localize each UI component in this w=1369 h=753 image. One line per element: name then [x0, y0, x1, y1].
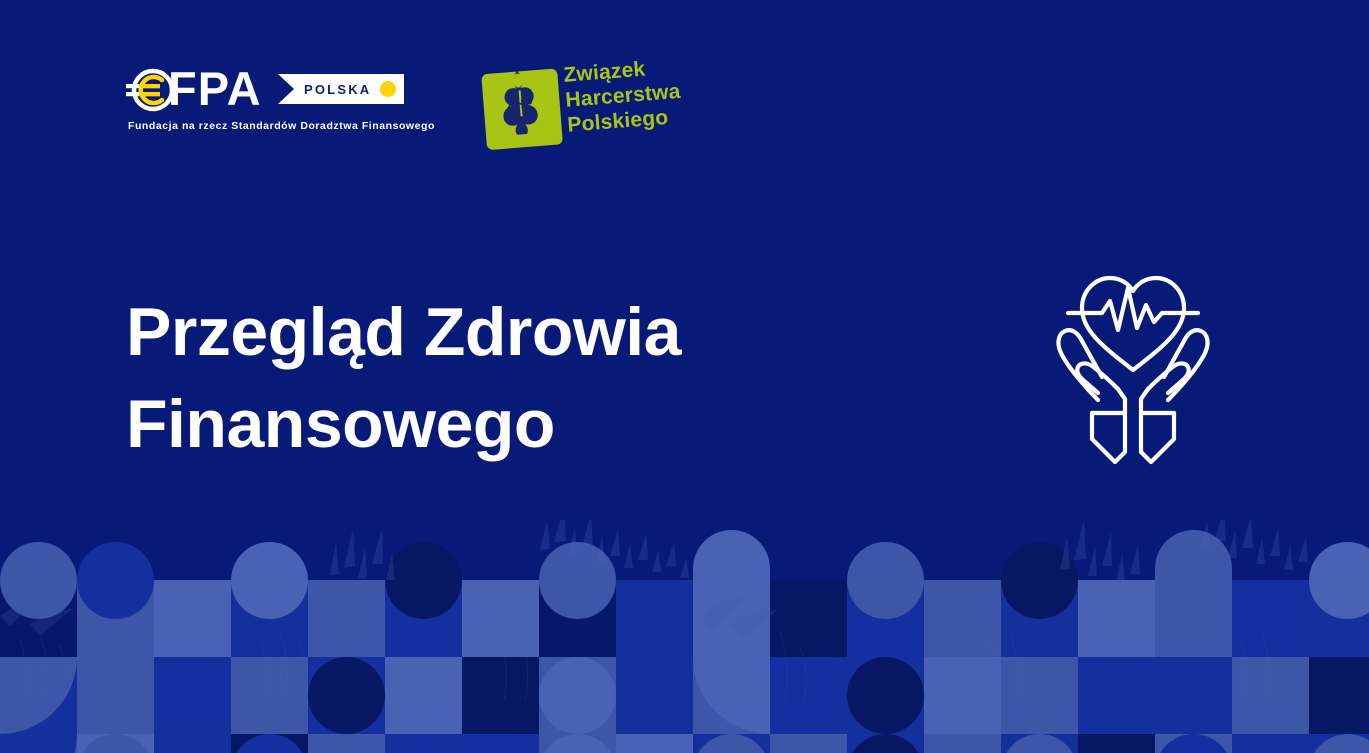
pattern-square — [1232, 734, 1309, 753]
zhp-wordmark: Związek Harcerstwa Polskiego — [563, 54, 684, 138]
pattern-cell — [154, 657, 231, 734]
pattern-arch — [1155, 530, 1232, 657]
polska-dot-icon — [380, 81, 396, 97]
pattern-cell — [77, 734, 154, 753]
pattern-cell — [1078, 657, 1155, 734]
pattern-cell — [462, 580, 539, 657]
pattern-cell — [693, 580, 770, 657]
pattern-square — [924, 657, 1001, 734]
pattern-cell — [770, 580, 847, 657]
pattern-square — [616, 580, 693, 657]
pattern-row — [0, 734, 1369, 753]
pattern-square — [308, 580, 385, 657]
pattern-cell — [1001, 734, 1078, 753]
scout-fleur-de-lis-icon: ZHP — [487, 66, 552, 137]
pattern-circle — [539, 657, 616, 734]
pattern-cell — [231, 657, 308, 734]
pattern-quarter — [0, 734, 77, 753]
polska-label: POLSKA — [304, 82, 371, 97]
efpa-tagline: Fundacja na rzecz Standardów Doradztwa F… — [128, 120, 435, 132]
pattern-cell — [462, 734, 539, 753]
pattern-square — [77, 657, 154, 734]
polska-badge: POLSKA — [278, 74, 404, 104]
pattern-cell — [231, 580, 308, 657]
pattern-cell — [462, 657, 539, 734]
pattern-cell — [1309, 580, 1369, 657]
pattern-cell — [616, 580, 693, 657]
pattern-cell — [1232, 580, 1309, 657]
page-title: Przegląd Zdrowia Finansowego — [126, 286, 826, 470]
pattern-cell — [0, 734, 77, 753]
pattern-cell — [1309, 734, 1369, 753]
pattern-cell — [231, 734, 308, 753]
pattern-circle — [1078, 657, 1155, 734]
pattern-square — [308, 734, 385, 753]
pattern-cell — [1155, 580, 1232, 657]
pattern-cell — [308, 657, 385, 734]
pattern-square — [1155, 657, 1232, 734]
pattern-cell — [616, 657, 693, 734]
pattern-square — [770, 657, 847, 734]
pattern-square — [462, 580, 539, 657]
pattern-square — [1232, 657, 1309, 734]
right-wrist-cuff — [1141, 413, 1174, 462]
pattern-cell — [924, 580, 1001, 657]
pattern-square — [231, 657, 308, 734]
efpa-wordmark: FPA — [168, 66, 262, 112]
pattern-circle — [231, 542, 308, 619]
pattern-cell — [154, 580, 231, 657]
pattern-square — [770, 734, 847, 753]
pattern-square — [1078, 580, 1155, 657]
heart-in-hands-icon — [1030, 250, 1236, 465]
pattern-square — [154, 580, 231, 657]
pattern-cell — [1232, 657, 1309, 734]
pattern-circle — [154, 657, 231, 734]
pattern-cell — [539, 734, 616, 753]
pattern-cell — [770, 734, 847, 753]
pattern-cell — [770, 657, 847, 734]
title-line-2: Finansowego — [126, 378, 826, 470]
pattern-row — [0, 580, 1369, 657]
pattern-cell — [1078, 580, 1155, 657]
pattern-circle — [77, 542, 154, 619]
pattern-square — [1001, 657, 1078, 734]
pattern-cell — [385, 657, 462, 734]
pattern-circle — [385, 542, 462, 619]
pattern-cell — [539, 657, 616, 734]
pattern-square — [462, 734, 539, 753]
geometric-blue-pattern — [0, 520, 1369, 753]
pattern-cell — [154, 734, 231, 753]
pattern-cell — [385, 580, 462, 657]
pattern-arch — [693, 530, 770, 657]
pattern-square — [1309, 657, 1369, 734]
pattern-square — [924, 580, 1001, 657]
pattern-cell — [0, 580, 77, 657]
pattern-cell — [308, 734, 385, 753]
pattern-circle — [847, 657, 924, 734]
logo-zhp: ZHP Związek Harcerstwa Polskiego — [479, 50, 701, 162]
pattern-circle — [847, 542, 924, 619]
pattern-cell — [1155, 657, 1232, 734]
pattern-cell — [1078, 734, 1155, 753]
pattern-cell — [924, 734, 1001, 753]
pattern-cell — [0, 657, 77, 734]
pattern-cell — [308, 580, 385, 657]
pattern-circle — [539, 542, 616, 619]
pattern-cell — [77, 580, 154, 657]
pattern-cell — [693, 734, 770, 753]
pattern-circle — [1001, 542, 1078, 619]
pattern-cell — [539, 580, 616, 657]
pattern-square — [616, 657, 693, 734]
heart-outline — [1082, 278, 1184, 370]
pattern-cell — [847, 657, 924, 734]
pattern-row — [0, 657, 1369, 734]
pattern-cell — [847, 734, 924, 753]
pattern-square — [616, 734, 693, 753]
pattern-cell — [1001, 580, 1078, 657]
pattern-cell — [924, 657, 1001, 734]
pattern-cell — [385, 734, 462, 753]
pattern-cell — [693, 657, 770, 734]
pattern-square — [462, 657, 539, 734]
svg-text:ZHP: ZHP — [506, 95, 533, 112]
pattern-square — [770, 580, 847, 657]
pattern-square — [385, 657, 462, 734]
logo-efpa-polska: FPA POLSKA Fundacja na rzecz Standardów … — [126, 66, 416, 138]
pattern-circle — [308, 657, 385, 734]
pattern-cell — [1309, 657, 1369, 734]
pattern-cell — [77, 657, 154, 734]
pattern-cell — [1232, 734, 1309, 753]
pattern-square — [924, 734, 1001, 753]
pattern-cell — [1001, 657, 1078, 734]
pattern-cell — [1155, 734, 1232, 753]
pattern-square — [154, 734, 231, 753]
pattern-cell — [616, 734, 693, 753]
pattern-circle — [0, 542, 77, 619]
slide-root: FPA POLSKA Fundacja na rzecz Standardów … — [0, 0, 1369, 753]
pattern-square — [1078, 734, 1155, 753]
left-wrist-cuff — [1092, 413, 1125, 462]
title-line-1: Przegląd Zdrowia — [126, 286, 826, 378]
pattern-square — [1232, 580, 1309, 657]
pattern-cell — [847, 580, 924, 657]
